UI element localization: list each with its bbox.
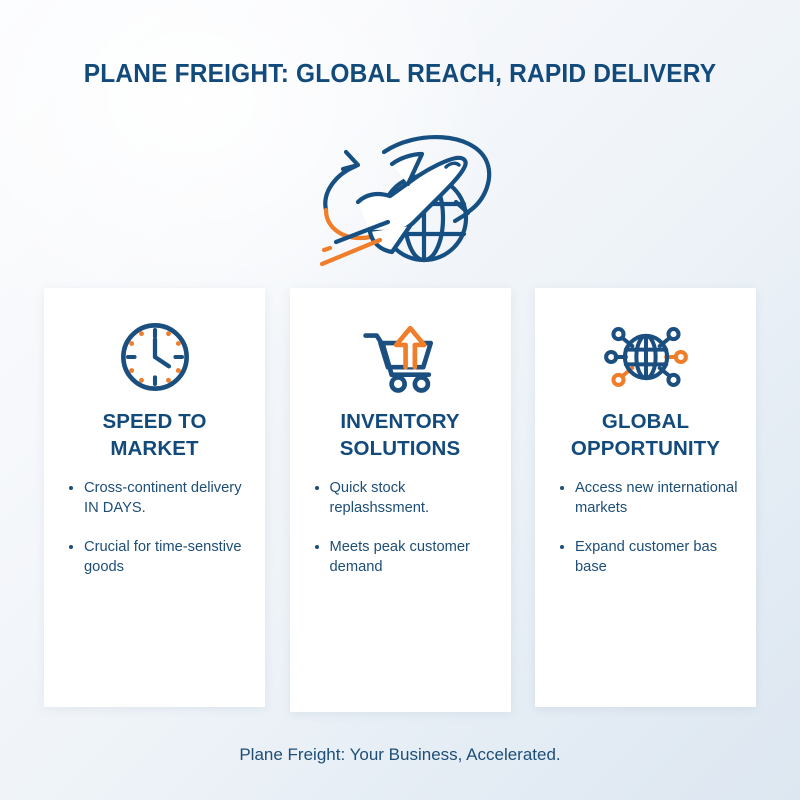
list-item: Cross-continent delivery IN DAYS. [68, 478, 247, 519]
card-heading: INVENTORY SOLUTIONS [304, 408, 497, 462]
card-bullet-list: Quick stock replashssment. Meets peak cu… [304, 478, 497, 577]
footer-tagline: Plane Freight: Your Business, Accelerate… [0, 745, 800, 765]
list-item: Crucial for time-senstive goods [68, 537, 247, 578]
feature-card-row: SPEED TO MARKET Cross-continent delivery… [44, 288, 756, 713]
feature-card-inventory-solutions: INVENTORY SOLUTIONS Quick stock replashs… [290, 288, 511, 712]
infographic-poster: PLANE FREIGHT: GLOBAL REACH, RAPID DELIV… [0, 0, 800, 800]
list-item: Quick stock replashssment. [314, 478, 493, 519]
feature-card-speed-to-market: SPEED TO MARKET Cross-continent delivery… [44, 288, 265, 707]
shopping-cart-up-arrow-icon [304, 314, 497, 400]
card-heading: GLOBAL OPPORTUNITY [549, 408, 742, 462]
global-network-icon [549, 314, 742, 400]
clock-icon [58, 314, 251, 400]
card-bullet-list: Access new international markets Expand … [549, 478, 742, 577]
list-item: Access new international markets [559, 478, 738, 519]
page-title: PLANE FREIGHT: GLOBAL REACH, RAPID DELIV… [16, 60, 784, 89]
list-item: Meets peak customer demand [314, 537, 493, 578]
feature-card-global-opportunity: GLOBAL OPPORTUNITY Access new internatio… [535, 288, 756, 707]
plane-globe-icon [296, 122, 506, 272]
list-item: Expand customer bas base [559, 537, 738, 578]
card-bullet-list: Cross-continent delivery IN DAYS. Crucia… [58, 478, 251, 577]
card-heading: SPEED TO MARKET [58, 408, 251, 462]
